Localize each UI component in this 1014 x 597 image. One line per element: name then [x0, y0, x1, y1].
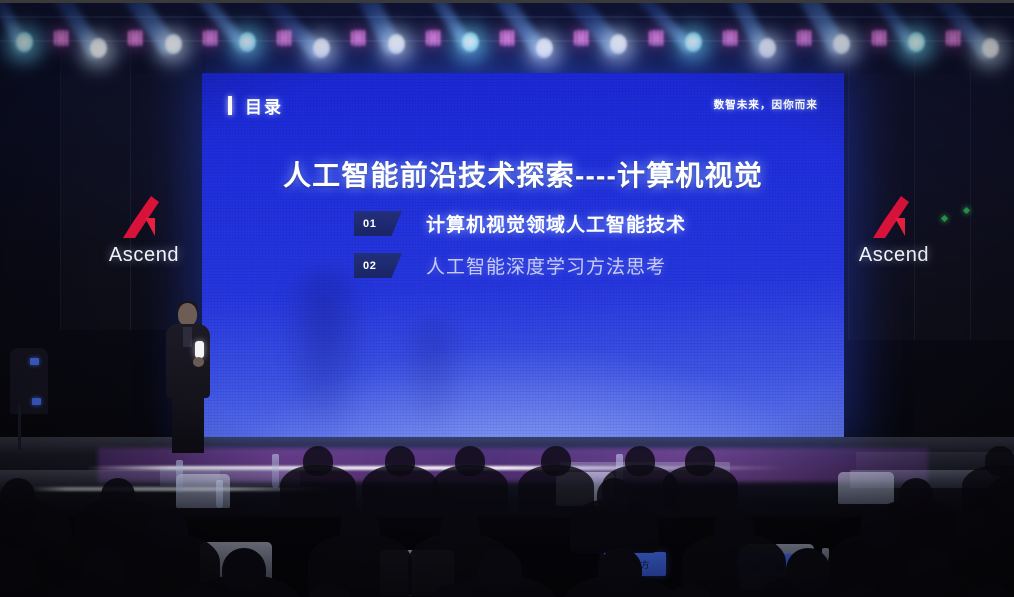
agenda-label-01: 计算机视觉领域人工智能技术 — [426, 210, 686, 237]
audience-member-head — [440, 508, 480, 548]
spotlight-head — [462, 32, 479, 52]
speaker-head — [178, 303, 197, 326]
led-presentation-screen: 目录 数智未来，因你而来 人工智能前沿技术探索----计算机视觉 01 计算机视… — [202, 73, 844, 437]
accent-fixture — [649, 30, 664, 46]
ascend-logo-mark-icon — [121, 196, 167, 238]
ascend-logo-left: Ascend — [98, 196, 190, 267]
audience-member-head — [625, 446, 655, 476]
accent-fixture — [277, 30, 292, 46]
audience-member-head — [908, 548, 952, 592]
spotlight-head — [165, 34, 182, 54]
audience-member-head — [0, 548, 36, 592]
audience-member-head — [148, 508, 188, 548]
accent-fixture — [54, 30, 69, 46]
audience-member-head — [985, 446, 1014, 476]
speaker-shirt — [183, 327, 192, 347]
agenda-item-02[interactable]: 02 人工智能深度学习方法思考 — [354, 252, 686, 279]
chair-back — [838, 472, 894, 504]
water-bottle — [176, 460, 183, 492]
audience-member-head — [303, 446, 333, 476]
spotlight-head — [685, 32, 702, 52]
agenda-list: 01 计算机视觉领域人工智能技术 02 人工智能深度学习方法思考 — [354, 210, 686, 279]
audience-member-head — [685, 446, 715, 476]
header-accent-bar — [228, 96, 232, 115]
audience-member-head — [860, 508, 900, 548]
conference-stage-scene: 目录 数智未来，因你而来 人工智能前沿技术探索----计算机视觉 01 计算机视… — [0, 0, 1014, 597]
audience-member-head — [899, 478, 933, 512]
spotlight-head — [908, 32, 925, 52]
audience-member-head — [954, 508, 994, 548]
speaker-shadow — [282, 269, 368, 437]
slide-tagline: 数智未来，因你而来 — [714, 97, 818, 112]
spotlight-head — [759, 38, 776, 58]
spotlight-head — [388, 34, 405, 54]
camera-operator — [4, 318, 66, 448]
nameplate-given-name: 方 — [641, 558, 652, 571]
camera-monitor-screen — [32, 398, 41, 405]
audience-member-head — [1, 478, 35, 512]
slide-main-title: 人工智能前沿技术探索----计算机视觉 — [202, 154, 844, 194]
accent-fixture — [872, 30, 887, 46]
water-bottle — [272, 454, 279, 488]
audience-member-head — [101, 478, 135, 512]
accent-fixture — [946, 30, 961, 46]
accent-fixture — [574, 30, 589, 46]
ascend-logo-right: Ascend — [848, 196, 940, 267]
agenda-badge-02: 02 — [354, 253, 402, 278]
agenda-badge-01: 01 — [354, 211, 402, 236]
audience-member-head — [478, 548, 522, 592]
slide-header-title: 目录 — [245, 93, 283, 118]
audience-member-head — [32, 508, 72, 548]
audience-member-head — [598, 548, 642, 592]
spotlight-head — [239, 32, 256, 52]
accent-fixture — [797, 30, 812, 46]
speaker-hand — [193, 357, 204, 367]
accent-fixture — [351, 30, 366, 46]
spotlight-head — [16, 32, 33, 52]
letterbox-bar — [0, 0, 1014, 3]
accent-fixture — [500, 30, 515, 46]
audience-seating: 袁 方 左 鹏 — [0, 432, 1014, 597]
accent-fixture — [128, 30, 143, 46]
camera-rig-body — [10, 348, 48, 414]
audience-member-head — [597, 478, 631, 512]
ascend-logo-mark-icon — [871, 196, 917, 238]
agenda-label-02: 人工智能深度学习方法思考 — [426, 252, 666, 279]
audience-member-head — [455, 446, 485, 476]
microphone-icon — [195, 341, 204, 358]
accent-fixture — [723, 30, 738, 46]
audience-member-head — [385, 446, 415, 476]
speaker-shadow-secondary — [398, 317, 468, 437]
slide-header: 目录 — [228, 93, 283, 118]
camera-monitor-screen — [30, 358, 39, 365]
audience-member-head — [222, 548, 266, 592]
audience-member-head — [987, 478, 1014, 512]
ascend-wordmark: Ascend — [848, 244, 940, 267]
accent-fixture — [203, 30, 218, 46]
audience-member-head — [714, 508, 754, 548]
audience-member-head — [82, 548, 126, 592]
spotlight-head — [982, 38, 999, 58]
water-bottle — [216, 480, 223, 508]
audience-member-head — [340, 508, 380, 548]
agenda-item-01[interactable]: 01 计算机视觉领域人工智能技术 — [354, 210, 686, 237]
audience-member-head — [786, 548, 830, 592]
ascend-wordmark: Ascend — [98, 244, 190, 267]
audience-member-head — [541, 446, 571, 476]
accent-fixture — [426, 30, 441, 46]
